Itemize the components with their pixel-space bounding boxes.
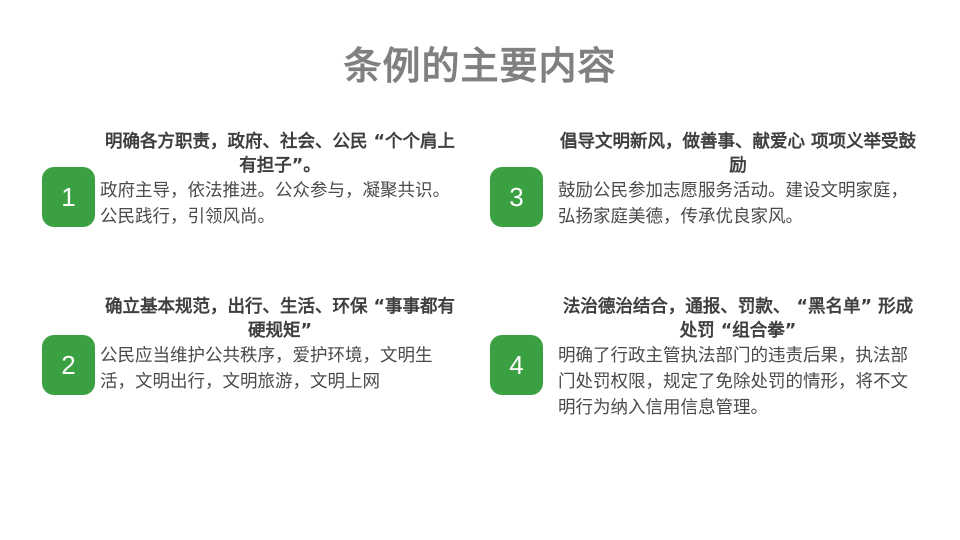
page-title: 条例的主要内容 <box>0 44 960 88</box>
point-heading-1: 明确各方职责，政府、社会、公民 “个个肩上有担子”。 <box>100 130 460 178</box>
point-text-block-3: 倡导文明新风，做善事、献爱心 项项义举受鼓励 鼓励公民参加志愿服务活动。建设文明… <box>558 130 918 230</box>
point-heading-2: 确立基本规范，出行、生活、环保 “事事都有硬规矩” <box>100 295 460 343</box>
point-number-badge-2: 2 <box>42 335 95 395</box>
point-item-2: 2 确立基本规范，出行、生活、环保 “事事都有硬规矩” 公民应当维护公共秩序，爱… <box>0 295 470 490</box>
point-text-block-4: 法治德治结合，通报、罚款、 “黑名单” 形成处罚 “组合拳” 明确了行政主管执法… <box>558 295 918 421</box>
point-body-1: 政府主导，依法推进。公众参与，凝聚共识。公民践行，引领风尚。 <box>100 178 460 230</box>
point-item-3: 3 倡导文明新风，做善事、献爱心 项项义举受鼓励 鼓励公民参加志愿服务活动。建设… <box>490 130 960 295</box>
point-body-2: 公民应当维护公共秩序，爱护环境，文明生活，文明出行，文明旅游，文明上网 <box>100 343 460 395</box>
point-heading-3: 倡导文明新风，做善事、献爱心 项项义举受鼓励 <box>558 130 918 178</box>
point-number-badge-1: 1 <box>42 167 95 227</box>
point-item-1: 1 明确各方职责，政府、社会、公民 “个个肩上有担子”。 政府主导，依法推进。公… <box>0 130 470 295</box>
slide: 条例的主要内容 1 明确各方职责，政府、社会、公民 “个个肩上有担子”。 政府主… <box>0 0 960 540</box>
point-body-4: 明确了行政主管执法部门的违责后果，执法部门处罚权限，规定了免除处罚的情形，将不文… <box>558 343 918 421</box>
point-text-block-2: 确立基本规范，出行、生活、环保 “事事都有硬规矩” 公民应当维护公共秩序，爱护环… <box>100 295 460 395</box>
point-number-badge-3: 3 <box>490 167 543 227</box>
point-number-badge-4: 4 <box>490 335 543 395</box>
point-item-4: 4 法治德治结合，通报、罚款、 “黑名单” 形成处罚 “组合拳” 明确了行政主管… <box>490 295 960 490</box>
point-body-3: 鼓励公民参加志愿服务活动。建设文明家庭，弘扬家庭美德，传承优良家风。 <box>558 178 918 230</box>
points-grid: 1 明确各方职责，政府、社会、公民 “个个肩上有担子”。 政府主导，依法推进。公… <box>0 130 960 500</box>
point-text-block-1: 明确各方职责，政府、社会、公民 “个个肩上有担子”。 政府主导，依法推进。公众参… <box>100 130 460 230</box>
point-heading-4: 法治德治结合，通报、罚款、 “黑名单” 形成处罚 “组合拳” <box>558 295 918 343</box>
